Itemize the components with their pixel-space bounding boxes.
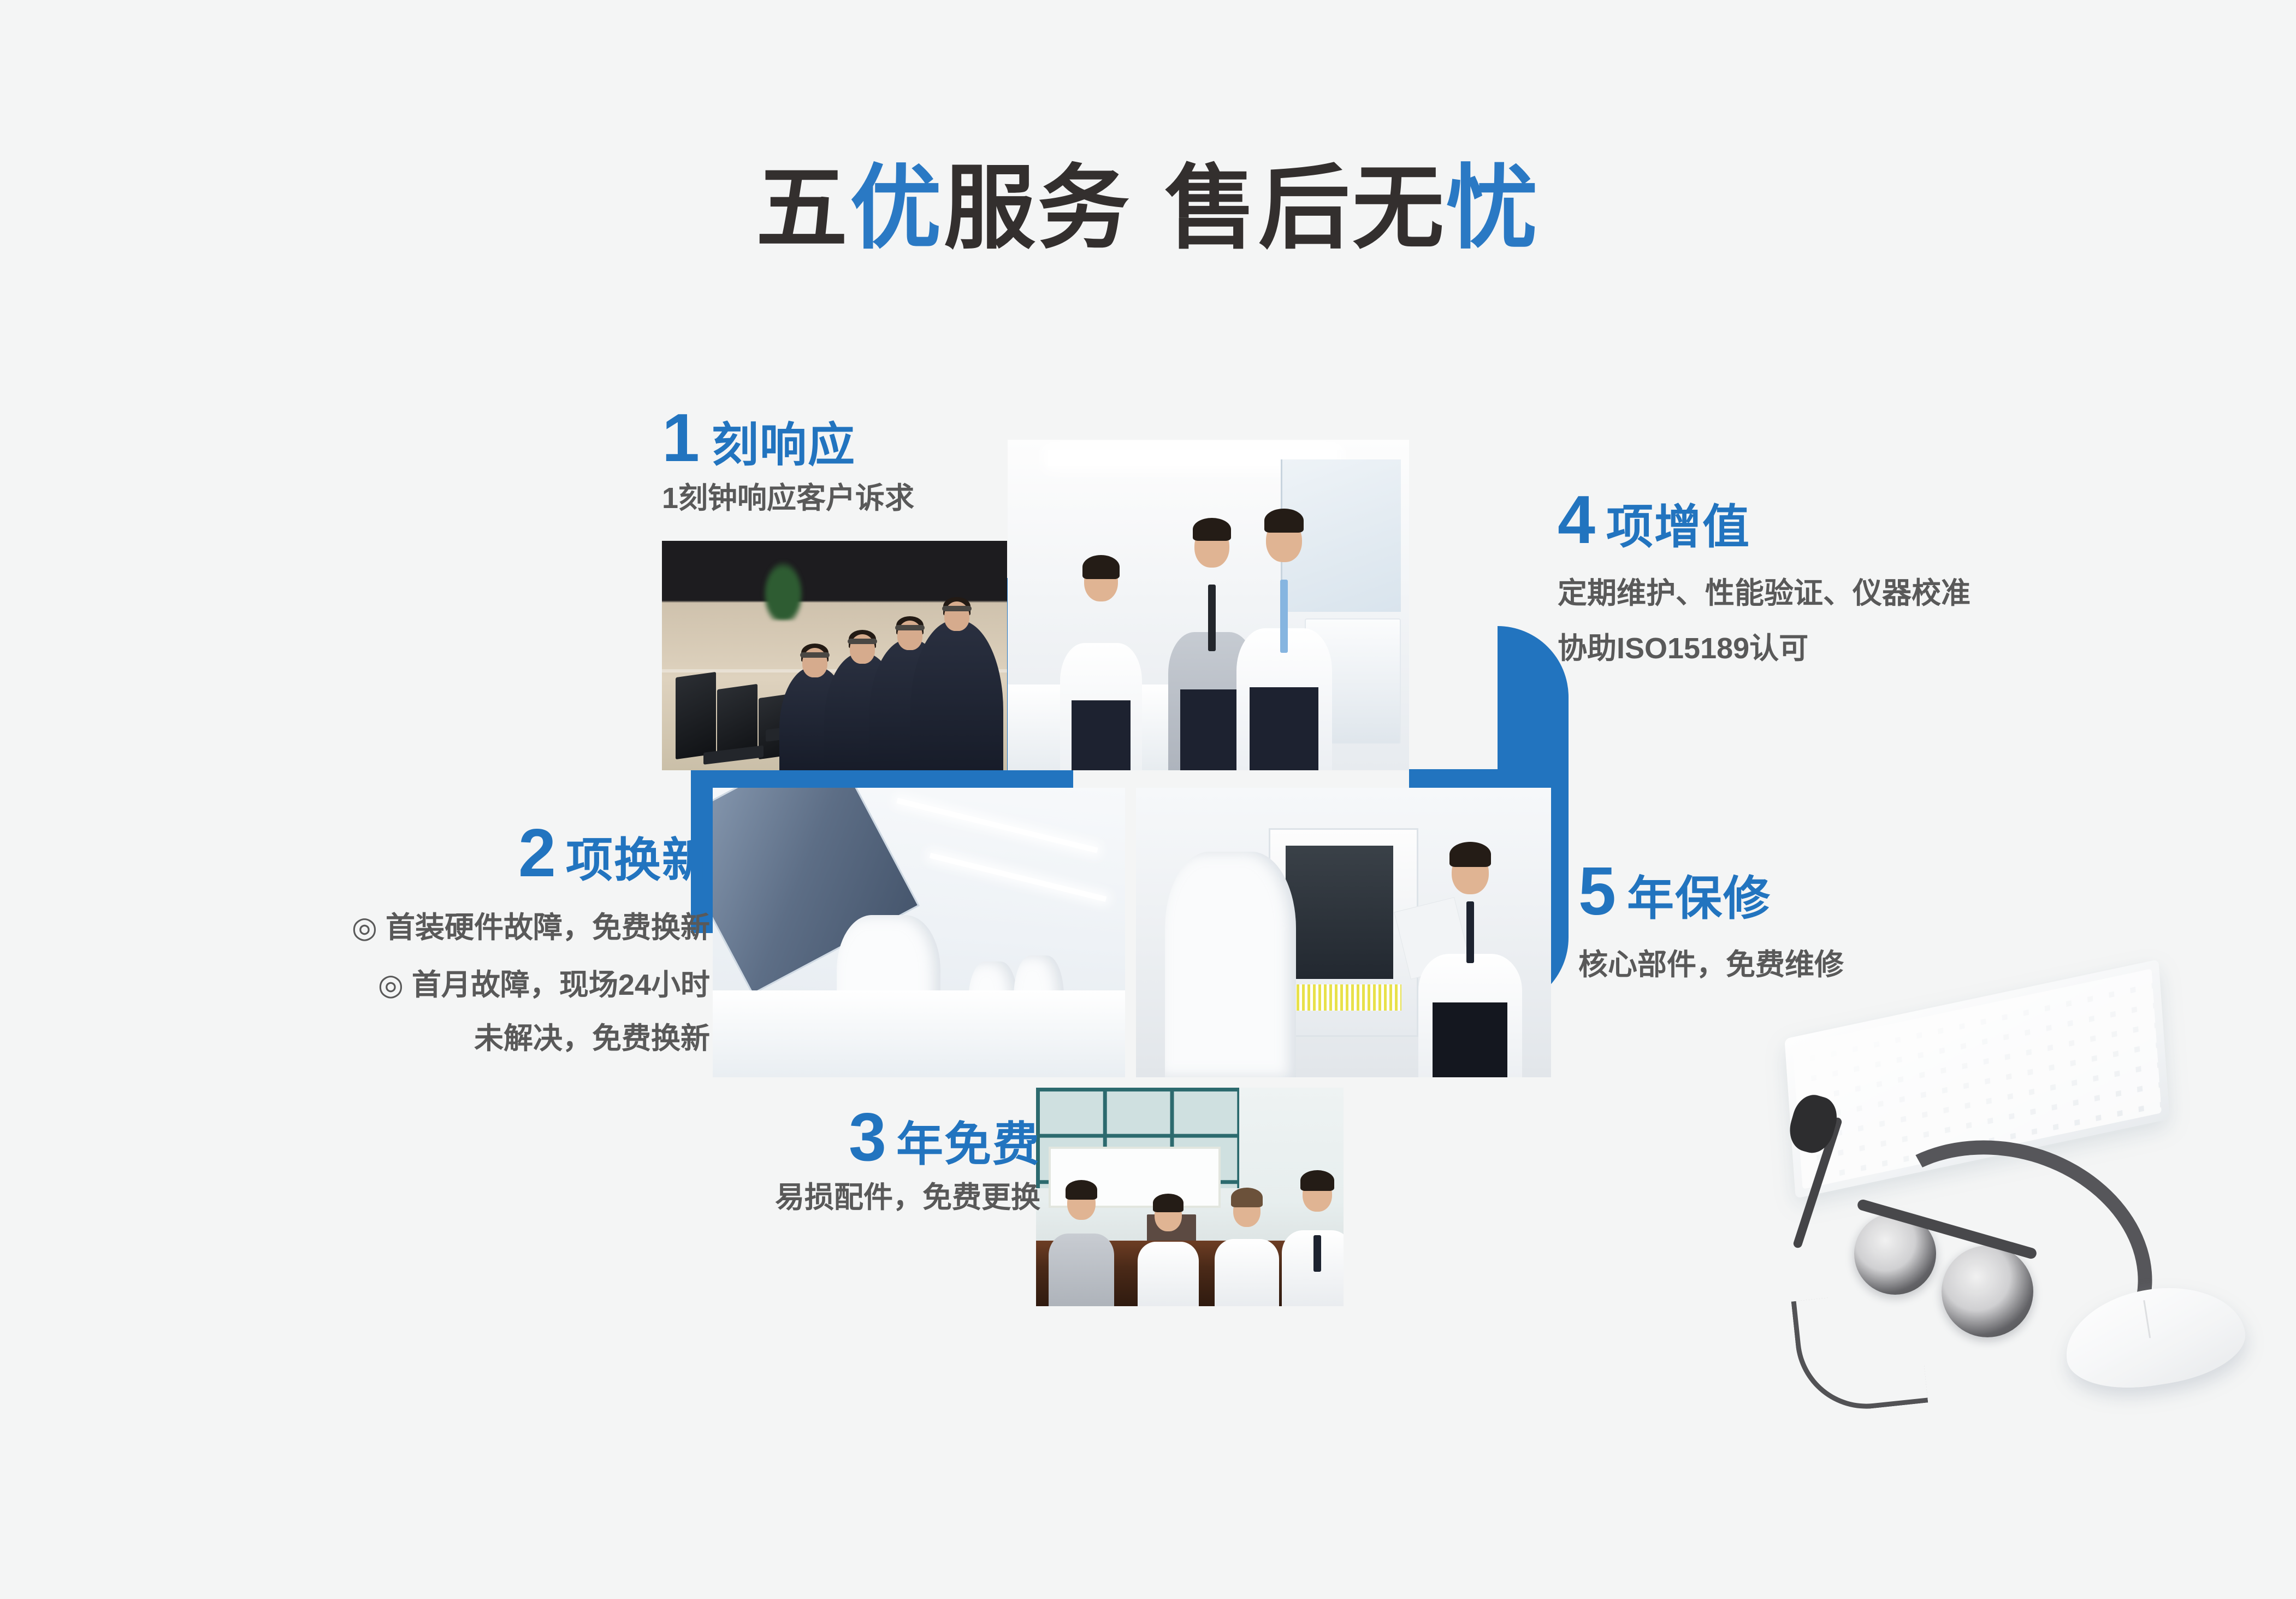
service-item-1-headline: 1刻响应: [662, 404, 914, 475]
poster-canvas: 五优服务售后无忧: [0, 0, 2296, 1599]
service-item-1-number: 1: [662, 400, 700, 476]
service-item-2-line-1: ◎ 首装硬件故障，免费换新: [235, 904, 710, 952]
title-part-2-highlight: 优: [850, 157, 944, 259]
service-item-3-headline: 3年免费: [702, 1104, 1040, 1174]
photo-lab-technician: [713, 788, 1125, 1077]
service-item-2-headline: 2项换新: [235, 819, 710, 890]
title-part-5-highlight: 忧: [1446, 157, 1540, 259]
service-item-2-word: 项换新: [566, 834, 710, 887]
blue-accent-bar-horizontal-left: [691, 769, 1073, 789]
service-item-4-word: 项增值: [1606, 501, 1750, 553]
photo-instrument-service: [1136, 788, 1551, 1077]
service-item-4-number: 4: [1558, 482, 1595, 558]
blue-accent-bar-horizontal-right: [1409, 769, 1518, 789]
photo-handshake-office: [1008, 440, 1409, 770]
service-item-5-number: 5: [1578, 854, 1616, 929]
headset-cable-icon: [1791, 1289, 1928, 1416]
service-item-4: 4项增值 定期维护、性能验证、仪器校准 协助ISO15189认可: [1558, 486, 1970, 673]
photo-call-center: [662, 541, 1007, 770]
service-item-4-line-1: 定期维护、性能验证、仪器校准: [1558, 570, 1970, 617]
service-item-3-line-1: 易损配件，免费更换: [702, 1174, 1040, 1222]
page-title: 五优服务售后无忧: [0, 156, 2296, 261]
title-part-3: 服务: [944, 157, 1132, 259]
headset-keyboard-mouse-image: [1737, 918, 2288, 1470]
service-item-3-number: 3: [849, 1100, 886, 1175]
title-part-1: 五: [756, 157, 850, 259]
service-item-2: 2项换新 ◎ 首装硬件故障，免费换新 ◎ 首月故障，现场24小时 未解决，免费换…: [235, 819, 710, 1063]
service-item-3-word: 年免费: [896, 1118, 1040, 1171]
service-item-2-line-2: ◎ 首月故障，现场24小时: [235, 961, 710, 1009]
headset-earcup-right-icon: [1942, 1246, 2033, 1337]
service-item-4-headline: 4项增值: [1558, 486, 1970, 557]
service-item-2-line-3: 未解决，免费换新: [235, 1015, 710, 1063]
service-item-1-word: 刻响应: [712, 419, 856, 471]
service-item-3: 3年免费 易损配件，免费更换: [702, 1104, 1040, 1222]
title-part-4: 售后无: [1164, 157, 1446, 259]
service-item-2-number: 2: [518, 816, 556, 891]
service-item-5-word: 年保修: [1627, 872, 1771, 925]
service-item-1-line-1: 1刻钟响应客户诉求: [662, 475, 914, 522]
service-item-1: 1刻响应 1刻钟响应客户诉求: [662, 404, 914, 522]
photo-team-meeting: [1036, 1088, 1344, 1306]
service-item-4-line-2: 协助ISO15189认可: [1558, 625, 1970, 672]
